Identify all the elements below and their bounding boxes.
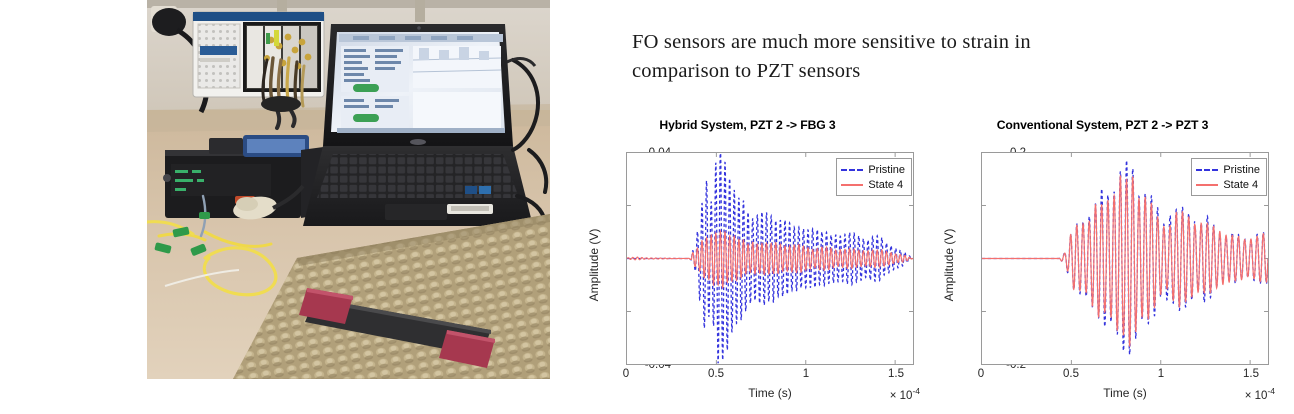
legend-item-pristine: Pristine xyxy=(1196,162,1260,177)
chart-title: Conventional System, PZT 2 -> PZT 3 xyxy=(930,118,1275,132)
x-axis-exponent: × 10-4 xyxy=(890,386,920,402)
page-title: FO sensors are much more sensitive to st… xyxy=(632,28,1232,86)
x-tick-label: 1 xyxy=(1141,368,1181,380)
chart-legend: Pristine State 4 xyxy=(836,158,912,196)
x-axis-label: Time (s) xyxy=(981,386,1269,400)
x-tick-label: 1.5 xyxy=(1231,368,1271,380)
chart-conventional-system: Conventional System, PZT 2 -> PZT 3 0.2 … xyxy=(930,118,1275,408)
x-tick-label: 1 xyxy=(786,368,826,380)
legend-item-state4: State 4 xyxy=(1196,177,1260,192)
legend-label: Pristine xyxy=(868,164,905,176)
x-axis-exponent: × 10-4 xyxy=(1245,386,1275,402)
x-tick-label: 0 xyxy=(606,368,646,380)
x-axis-exponent-power: -4 xyxy=(912,386,920,396)
legend-swatch-dashed-icon xyxy=(841,169,863,171)
x-axis-label: Time (s) xyxy=(626,386,914,400)
x-tick-label: 0.5 xyxy=(696,368,736,380)
chart-title: Hybrid System, PZT 2 -> FBG 3 xyxy=(575,118,920,132)
lab-setup-illustration xyxy=(147,0,550,379)
legend-item-state4: State 4 xyxy=(841,177,905,192)
x-axis-exponent-base: × 10 xyxy=(890,390,913,402)
legend-swatch-dashed-icon xyxy=(1196,169,1218,171)
headline-line-1: FO sensors are much more sensitive to st… xyxy=(632,28,1232,57)
legend-swatch-solid-icon xyxy=(841,184,863,186)
legend-label: State 4 xyxy=(868,179,903,191)
series-state4 xyxy=(982,176,1268,347)
chart-legend: Pristine State 4 xyxy=(1191,158,1267,196)
x-tick-label: 0 xyxy=(961,368,1001,380)
x-axis-exponent-power: -4 xyxy=(1267,386,1275,396)
legend-item-pristine: Pristine xyxy=(841,162,905,177)
lab-setup-photograph xyxy=(147,0,550,379)
y-axis-label: Amplitude (V) xyxy=(587,200,601,330)
headline-line-2: comparison to PZT sensors xyxy=(632,57,1232,86)
waveform-trace xyxy=(982,176,1268,347)
x-tick-label: 0.5 xyxy=(1051,368,1091,380)
chart-hybrid-system: Hybrid System, PZT 2 -> FBG 3 0.04 0.02 … xyxy=(575,118,920,408)
legend-label: State 4 xyxy=(1223,179,1258,191)
legend-label: Pristine xyxy=(1223,164,1260,176)
x-axis-exponent-base: × 10 xyxy=(1245,390,1268,402)
legend-swatch-solid-icon xyxy=(1196,184,1218,186)
x-tick-label: 1.5 xyxy=(876,368,916,380)
y-axis-label: Amplitude (V) xyxy=(942,200,956,330)
